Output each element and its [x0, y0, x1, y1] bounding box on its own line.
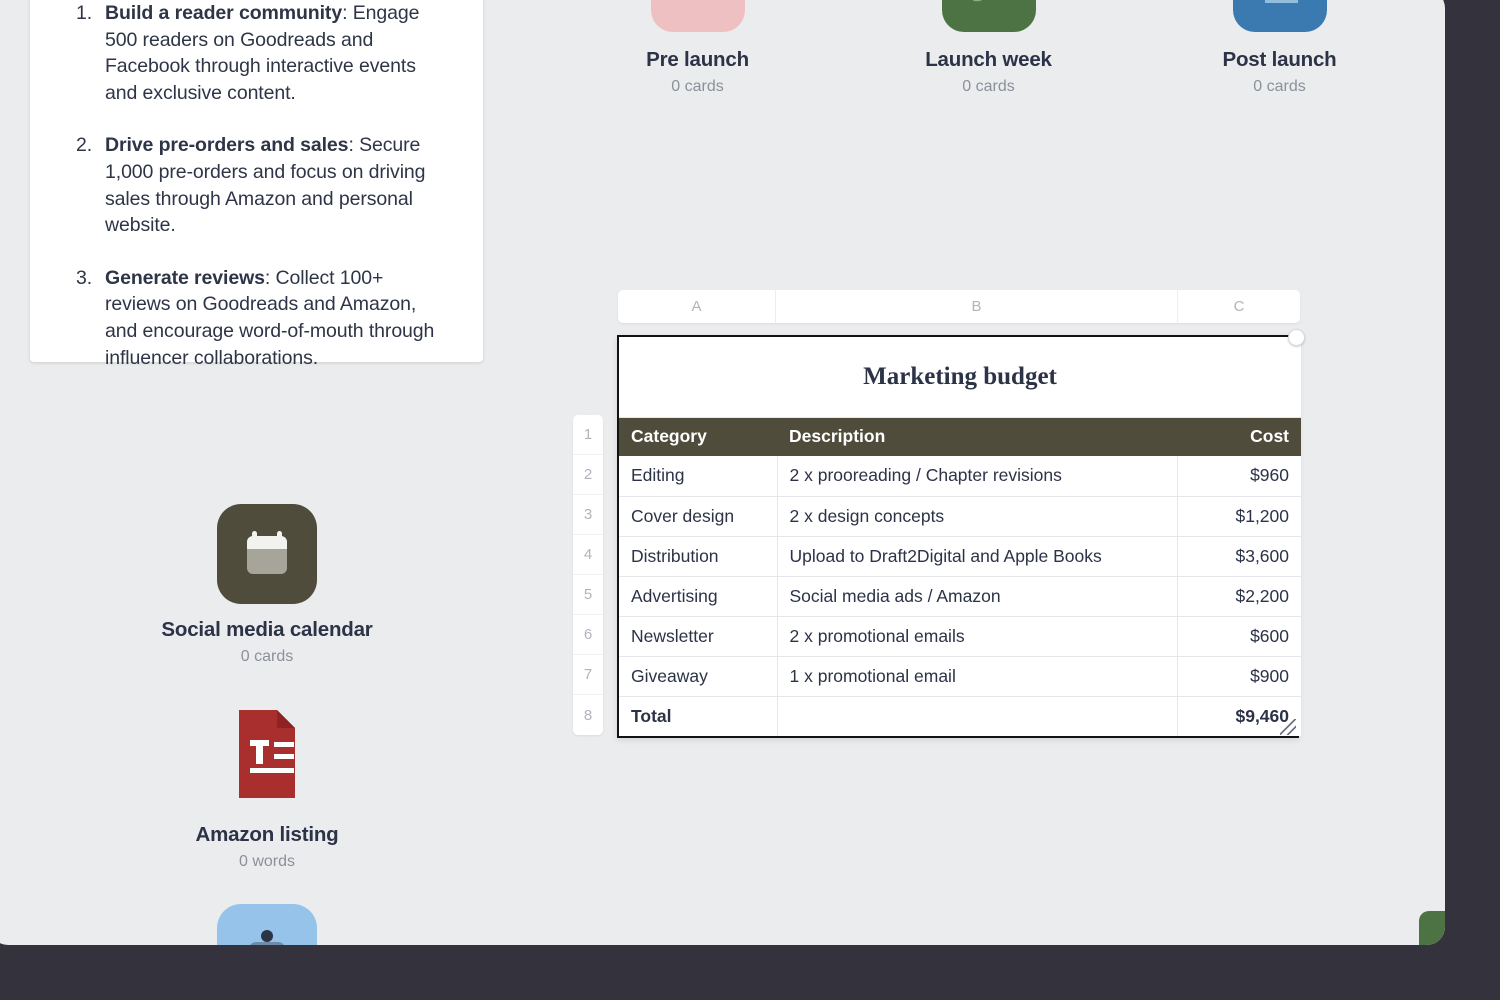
book-sparkle-icon [651, 0, 745, 32]
list-item: Drive pre-orders and sales: Secure 1,000… [60, 132, 453, 238]
goal-title: Drive pre-orders and sales [105, 134, 348, 156]
table-caption: Marketing budget [619, 337, 1301, 417]
launch-timeline-flow: Pre launch 0 cards 1 week [616, 0, 1361, 96]
row-number[interactable]: 2 [573, 455, 603, 495]
selection-handle-icon[interactable] [1288, 329, 1305, 346]
cell-description[interactable]: Upload to Draft2Digital and Apple Books [777, 536, 1177, 576]
table-row[interactable]: Advertising Social media ads / Amazon $2… [619, 576, 1301, 616]
row-number[interactable]: 7 [573, 655, 603, 695]
text-document-icon [217, 704, 317, 809]
bar-chart-icon [1233, 0, 1327, 32]
board-item-social-media-calendar[interactable]: Social media calendar 0 cards [137, 504, 397, 666]
flow-node-count: 0 cards [671, 78, 723, 96]
board-item-robot[interactable] [137, 904, 397, 945]
table-row[interactable]: Distribution Upload to Draft2Digital and… [619, 536, 1301, 576]
goal-title: Generate reviews [105, 267, 265, 289]
board-item-label: Amazon listing [196, 823, 339, 847]
row-number[interactable]: 4 [573, 535, 603, 575]
table-row[interactable]: Cover design 2 x design concepts $1,200 [619, 496, 1301, 536]
board-item-count: 0 words [239, 853, 295, 871]
row-number[interactable]: 5 [573, 575, 603, 615]
cell-cost[interactable]: $960 [1177, 456, 1301, 496]
cell-category[interactable]: Advertising [619, 576, 777, 616]
flow-node-launch-week[interactable]: Launch week 0 cards [907, 0, 1070, 96]
row-number[interactable]: 1 [573, 415, 603, 455]
flow-connector-2: 3 weeks [1070, 0, 1198, 32]
goal-title: Build a reader community [105, 2, 342, 24]
board-canvas[interactable]: Build a reader community: Engage 500 rea… [0, 0, 1445, 945]
calendar-icon [217, 504, 317, 604]
column-header-b[interactable]: B [776, 290, 1178, 323]
table-row[interactable]: Editing 2 x prooreading / Chapter revisi… [619, 456, 1301, 496]
board-item-label: Social media calendar [161, 618, 372, 642]
board-item-amazon-listing[interactable]: Amazon listing 0 words [137, 704, 397, 871]
flow-node-count: 0 cards [962, 78, 1014, 96]
partial-green-element[interactable] [1419, 911, 1445, 945]
flow-node-post-launch[interactable]: Post launch 0 cards [1198, 0, 1361, 96]
cell-category[interactable]: Newsletter [619, 616, 777, 656]
row-number[interactable]: 8 [573, 695, 603, 735]
cell-category[interactable]: Editing [619, 456, 777, 496]
list-item: Generate reviews: Collect 100+ reviews o… [60, 265, 453, 371]
flow-node-pre-launch[interactable]: Pre launch 0 cards [616, 0, 779, 96]
goals-document-card[interactable]: Build a reader community: Engage 500 rea… [30, 0, 483, 362]
cell-category[interactable]: Distribution [619, 536, 777, 576]
cell-description[interactable]: 2 x design concepts [777, 496, 1177, 536]
flow-node-label: Launch week [925, 48, 1052, 72]
cell-category[interactable]: Giveaway [619, 656, 777, 696]
cell-cost[interactable]: $600 [1177, 616, 1301, 656]
row-number[interactable]: 6 [573, 615, 603, 655]
robot-icon [217, 904, 317, 945]
row-number[interactable]: 3 [573, 495, 603, 535]
rocket-icon [942, 0, 1036, 32]
column-header-c[interactable]: C [1178, 290, 1300, 323]
cell-cost[interactable]: $2,200 [1177, 576, 1301, 616]
cell-description[interactable]: 2 x promotional emails [777, 616, 1177, 656]
spreadsheet-row-numbers: 1 2 3 4 5 6 7 8 [573, 415, 603, 735]
cell-description[interactable]: 2 x prooreading / Chapter revisions [777, 456, 1177, 496]
cell-cost[interactable]: $3,600 [1177, 536, 1301, 576]
cell-total-description[interactable] [777, 696, 1177, 736]
table-header-category[interactable]: Category [619, 417, 777, 456]
flow-connector-1: 1 week [779, 0, 907, 32]
table-row[interactable]: Giveaway 1 x promotional email $900 [619, 656, 1301, 696]
column-header-a[interactable]: A [618, 290, 776, 323]
cell-description[interactable]: Social media ads / Amazon [777, 576, 1177, 616]
cell-total-label[interactable]: Total [619, 696, 777, 736]
app-root: Build a reader community: Engage 500 rea… [0, 0, 1500, 1000]
cell-description[interactable]: 1 x promotional email [777, 656, 1177, 696]
budget-table: Marketing budget Category Description Co… [619, 337, 1301, 736]
table-caption-row: Marketing budget [619, 337, 1301, 417]
cell-category[interactable]: Cover design [619, 496, 777, 536]
table-row[interactable]: Newsletter 2 x promotional emails $600 [619, 616, 1301, 656]
table-header-row: Category Description Cost [619, 417, 1301, 456]
resize-grip-icon[interactable] [1280, 719, 1296, 735]
list-item: Build a reader community: Engage 500 rea… [60, 0, 453, 106]
cell-cost[interactable]: $900 [1177, 656, 1301, 696]
table-row-total[interactable]: Total $9,460 [619, 696, 1301, 736]
budget-table-container[interactable]: Marketing budget Category Description Co… [617, 335, 1299, 738]
goals-list: Build a reader community: Engage 500 rea… [60, 0, 453, 371]
flow-node-count: 0 cards [1253, 78, 1305, 96]
board-item-count: 0 cards [241, 648, 293, 666]
table-header-description[interactable]: Description [777, 417, 1177, 456]
flow-node-label: Pre launch [646, 48, 749, 72]
flow-node-label: Post launch [1223, 48, 1337, 72]
spreadsheet-column-headers: A B C [618, 290, 1300, 323]
cell-cost[interactable]: $1,200 [1177, 496, 1301, 536]
table-header-cost[interactable]: Cost [1177, 417, 1301, 456]
